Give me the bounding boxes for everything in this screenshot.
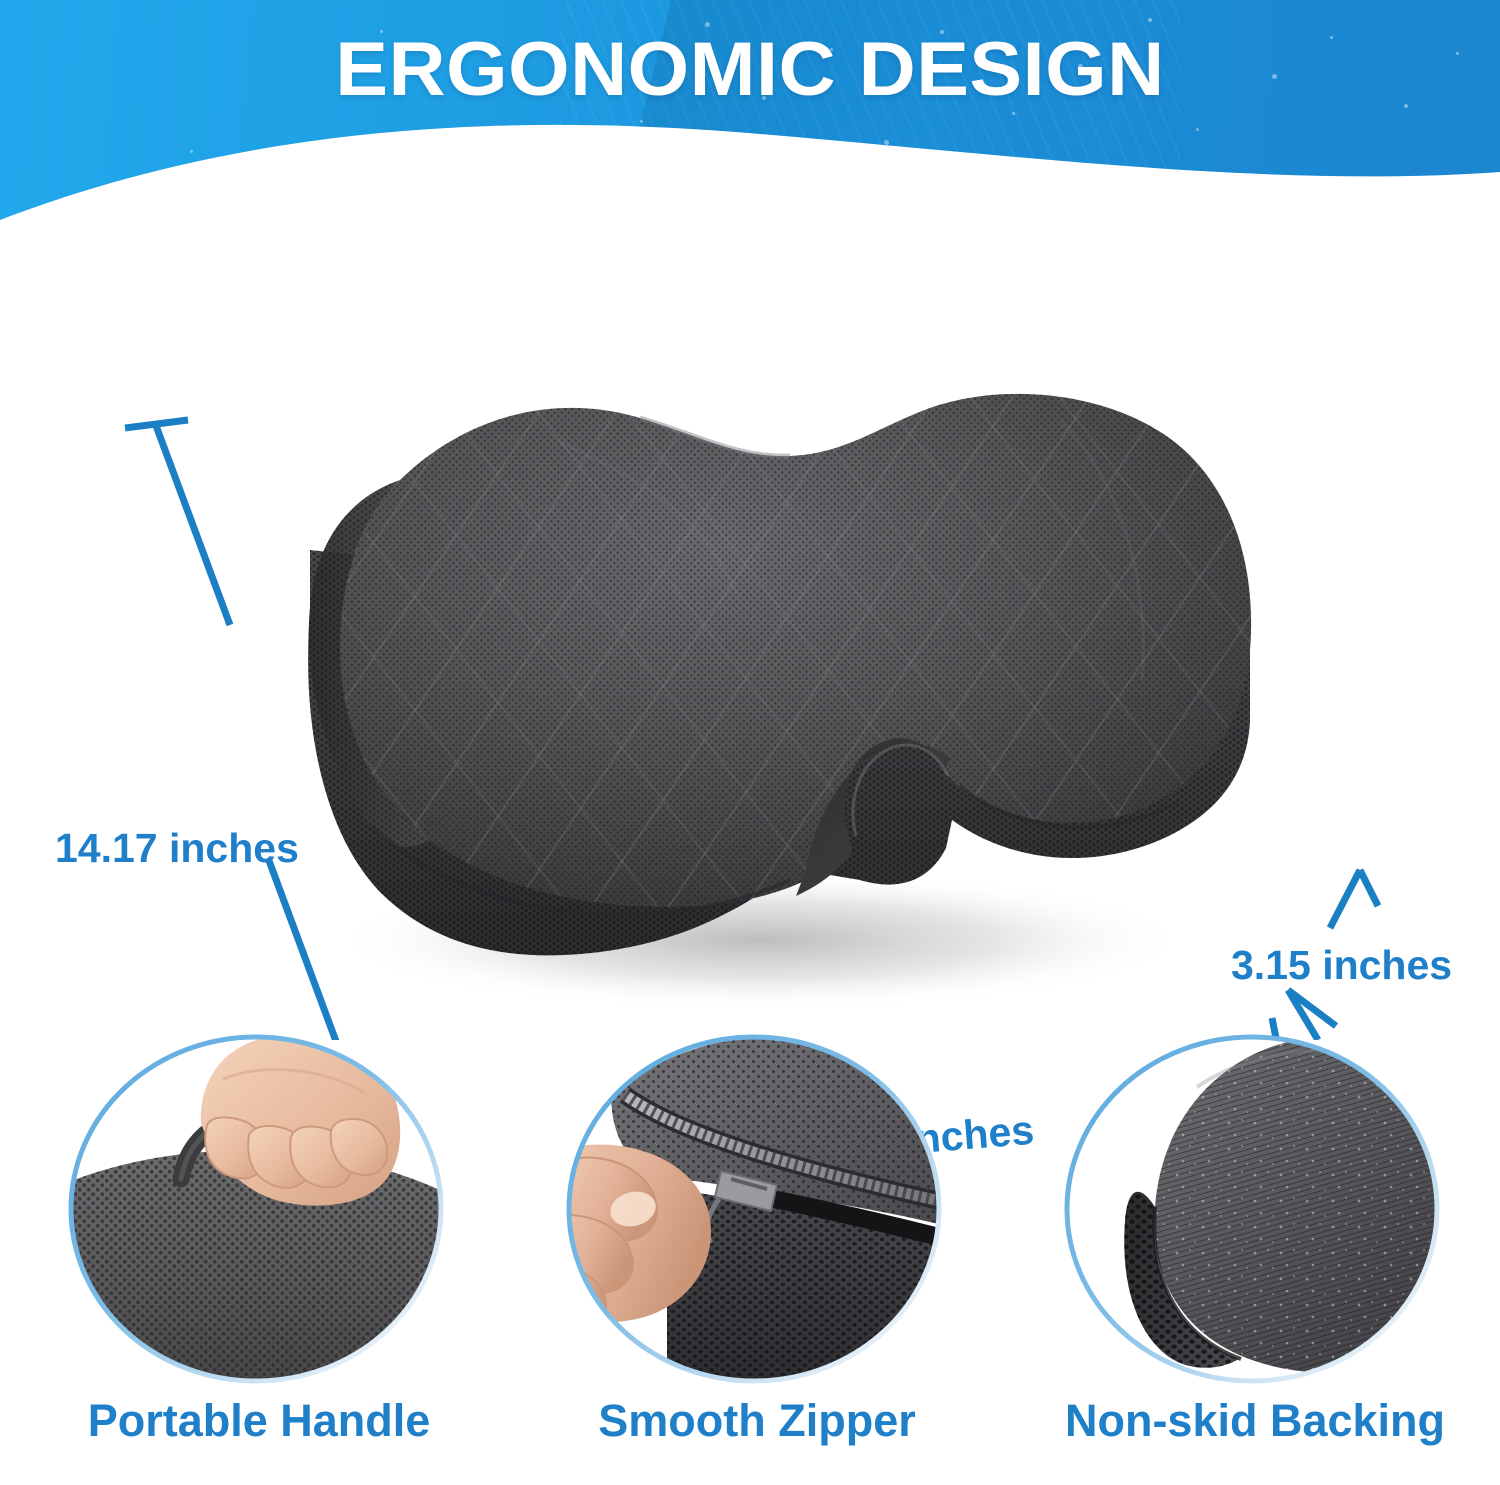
dim-line-depth-upper: [1330, 870, 1360, 928]
dimension-label-height: 14.17 inches: [55, 825, 299, 872]
feature-row: Portable Handle: [0, 1030, 1500, 1485]
feature-ring: [67, 1033, 445, 1385]
feature-label-portable-handle: Portable Handle: [44, 1395, 474, 1447]
feature-ring: [565, 1033, 943, 1385]
dimension-label-depth: 3.15 inches: [1231, 942, 1452, 989]
product-illustration: [0, 180, 1500, 1040]
feature-non-skid-backing[interactable]: Non-skid Backing: [1040, 1030, 1470, 1385]
feature-ring: [1063, 1033, 1441, 1385]
dim-cap-depth-top: [1360, 870, 1378, 906]
seat-cushion: [308, 394, 1251, 955]
feature-image-circle: [1055, 1030, 1455, 1385]
hero-product-area: 14.17 inches 3.15 inches 18.11 inches: [0, 180, 1500, 1040]
feature-label-smooth-zipper: Smooth Zipper: [542, 1395, 972, 1447]
dim-line-height-upper: [155, 423, 230, 625]
feature-label-non-skid-backing: Non-skid Backing: [1040, 1395, 1470, 1447]
feature-image-circle: [557, 1030, 957, 1385]
feature-portable-handle[interactable]: Portable Handle: [44, 1030, 474, 1385]
feature-smooth-zipper[interactable]: Smooth Zipper: [542, 1030, 972, 1385]
dim-line-height-lower: [268, 858, 340, 1040]
dim-cap-height-top: [125, 420, 188, 428]
feature-image-circle: [59, 1030, 459, 1385]
page-title: ERGONOMIC DESIGN: [0, 26, 1500, 113]
